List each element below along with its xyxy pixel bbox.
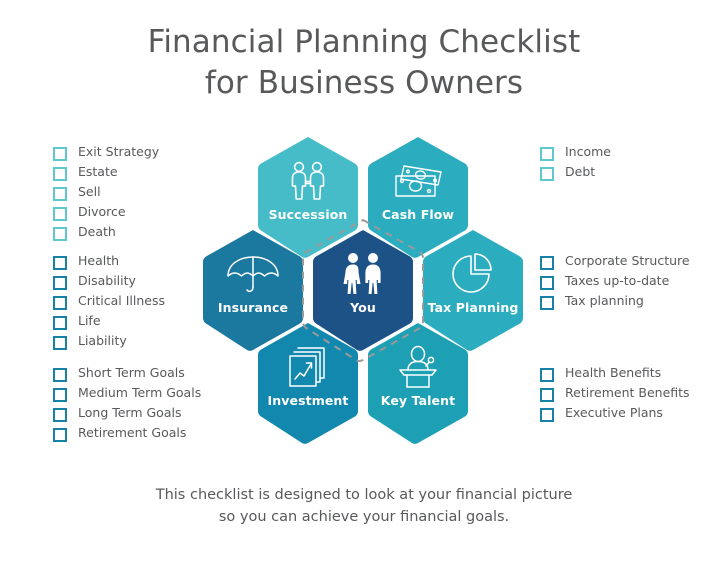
checkbox-icon[interactable] bbox=[540, 147, 554, 161]
list-item[interactable]: Health bbox=[53, 251, 165, 271]
hexagon-cluster: Succession Cash Flow bbox=[198, 133, 528, 443]
list-item-label: Short Term Goals bbox=[78, 363, 185, 383]
list-item[interactable]: Divorce bbox=[53, 202, 159, 222]
list-item-label: Corporate Structure bbox=[565, 251, 690, 271]
list-item-label: Health bbox=[78, 251, 119, 271]
checkbox-icon[interactable] bbox=[53, 187, 67, 201]
infographic-canvas: Financial Planning Checklist for Busines… bbox=[0, 0, 728, 562]
title-line-1: Financial Planning Checklist bbox=[0, 22, 728, 63]
list-item[interactable]: Liability bbox=[53, 331, 165, 351]
list-item-label: Taxes up-to-date bbox=[565, 271, 669, 291]
checklist-group-goals: Short Term Goals Medium Term Goals Long … bbox=[53, 363, 201, 443]
list-item[interactable]: Death bbox=[53, 222, 159, 242]
list-item[interactable]: Life bbox=[53, 311, 165, 331]
checkbox-icon[interactable] bbox=[53, 388, 67, 402]
list-item[interactable]: Disability bbox=[53, 271, 165, 291]
list-item-label: Health Benefits bbox=[565, 363, 661, 383]
checkbox-icon[interactable] bbox=[53, 147, 67, 161]
list-item-label: Medium Term Goals bbox=[78, 383, 201, 403]
checkbox-icon[interactable] bbox=[540, 368, 554, 382]
list-item[interactable]: Short Term Goals bbox=[53, 363, 201, 383]
checklist-group-cash-flow: Income Debt bbox=[540, 142, 611, 182]
hex-you[interactable]: You bbox=[309, 228, 417, 352]
checkbox-icon[interactable] bbox=[53, 227, 67, 241]
list-item-label: Long Term Goals bbox=[78, 403, 181, 423]
list-item-label: Divorce bbox=[78, 202, 126, 222]
list-item[interactable]: Debt bbox=[540, 162, 611, 182]
list-item-label: Liability bbox=[78, 331, 127, 351]
list-item[interactable]: Sell bbox=[53, 182, 159, 202]
list-item-label: Sell bbox=[78, 182, 101, 202]
checkbox-icon[interactable] bbox=[53, 207, 67, 221]
list-item-label: Exit Strategy bbox=[78, 142, 159, 162]
checkbox-icon[interactable] bbox=[53, 296, 67, 310]
list-item-label: Life bbox=[78, 311, 101, 331]
footer-line-2: so you can achieve your financial goals. bbox=[0, 506, 728, 528]
list-item[interactable]: Estate bbox=[53, 162, 159, 182]
list-item[interactable]: Tax planning bbox=[540, 291, 690, 311]
checkbox-icon[interactable] bbox=[540, 167, 554, 181]
checkbox-icon[interactable] bbox=[53, 276, 67, 290]
checkbox-icon[interactable] bbox=[53, 316, 67, 330]
list-item[interactable]: Long Term Goals bbox=[53, 403, 201, 423]
checklist-group-insurance: Health Disability Critical Illness Life … bbox=[53, 251, 165, 351]
list-item-label: Debt bbox=[565, 162, 595, 182]
checkbox-icon[interactable] bbox=[53, 368, 67, 382]
list-item[interactable]: Critical Illness bbox=[53, 291, 165, 311]
list-item-label: Tax planning bbox=[565, 291, 644, 311]
footer-caption: This checklist is designed to look at yo… bbox=[0, 484, 728, 528]
footer-line-1: This checklist is designed to look at yo… bbox=[0, 484, 728, 506]
list-item-label: Death bbox=[78, 222, 116, 242]
list-item[interactable]: Corporate Structure bbox=[540, 251, 690, 271]
checkbox-icon[interactable] bbox=[540, 296, 554, 310]
list-item[interactable]: Medium Term Goals bbox=[53, 383, 201, 403]
list-item-label: Estate bbox=[78, 162, 118, 182]
checklist-group-tax-planning: Corporate Structure Taxes up-to-date Tax… bbox=[540, 251, 690, 311]
checkbox-icon[interactable] bbox=[540, 408, 554, 422]
list-item-label: Executive Plans bbox=[565, 403, 663, 423]
page-title: Financial Planning Checklist for Busines… bbox=[0, 22, 728, 104]
list-item-label: Retirement Benefits bbox=[565, 383, 690, 403]
checkbox-icon[interactable] bbox=[53, 167, 67, 181]
checkbox-icon[interactable] bbox=[53, 428, 67, 442]
checkbox-icon[interactable] bbox=[53, 408, 67, 422]
list-item[interactable]: Retirement Goals bbox=[53, 423, 201, 443]
list-item-label: Critical Illness bbox=[78, 291, 165, 311]
checkbox-icon[interactable] bbox=[53, 336, 67, 350]
checkbox-icon[interactable] bbox=[540, 276, 554, 290]
title-line-2: for Business Owners bbox=[0, 63, 728, 104]
list-item[interactable]: Exit Strategy bbox=[53, 142, 159, 162]
list-item-label: Disability bbox=[78, 271, 136, 291]
list-item-label: Retirement Goals bbox=[78, 423, 186, 443]
list-item[interactable]: Retirement Benefits bbox=[540, 383, 690, 403]
list-item[interactable]: Taxes up-to-date bbox=[540, 271, 690, 291]
checklist-group-exit-strategy: Exit Strategy Estate Sell Divorce Death bbox=[53, 142, 159, 242]
checkbox-icon[interactable] bbox=[540, 256, 554, 270]
checkbox-icon[interactable] bbox=[53, 256, 67, 270]
list-item-label: Income bbox=[565, 142, 611, 162]
list-item[interactable]: Income bbox=[540, 142, 611, 162]
list-item[interactable]: Health Benefits bbox=[540, 363, 690, 383]
checklist-group-key-talent: Health Benefits Retirement Benefits Exec… bbox=[540, 363, 690, 423]
checkbox-icon[interactable] bbox=[540, 388, 554, 402]
list-item[interactable]: Executive Plans bbox=[540, 403, 690, 423]
